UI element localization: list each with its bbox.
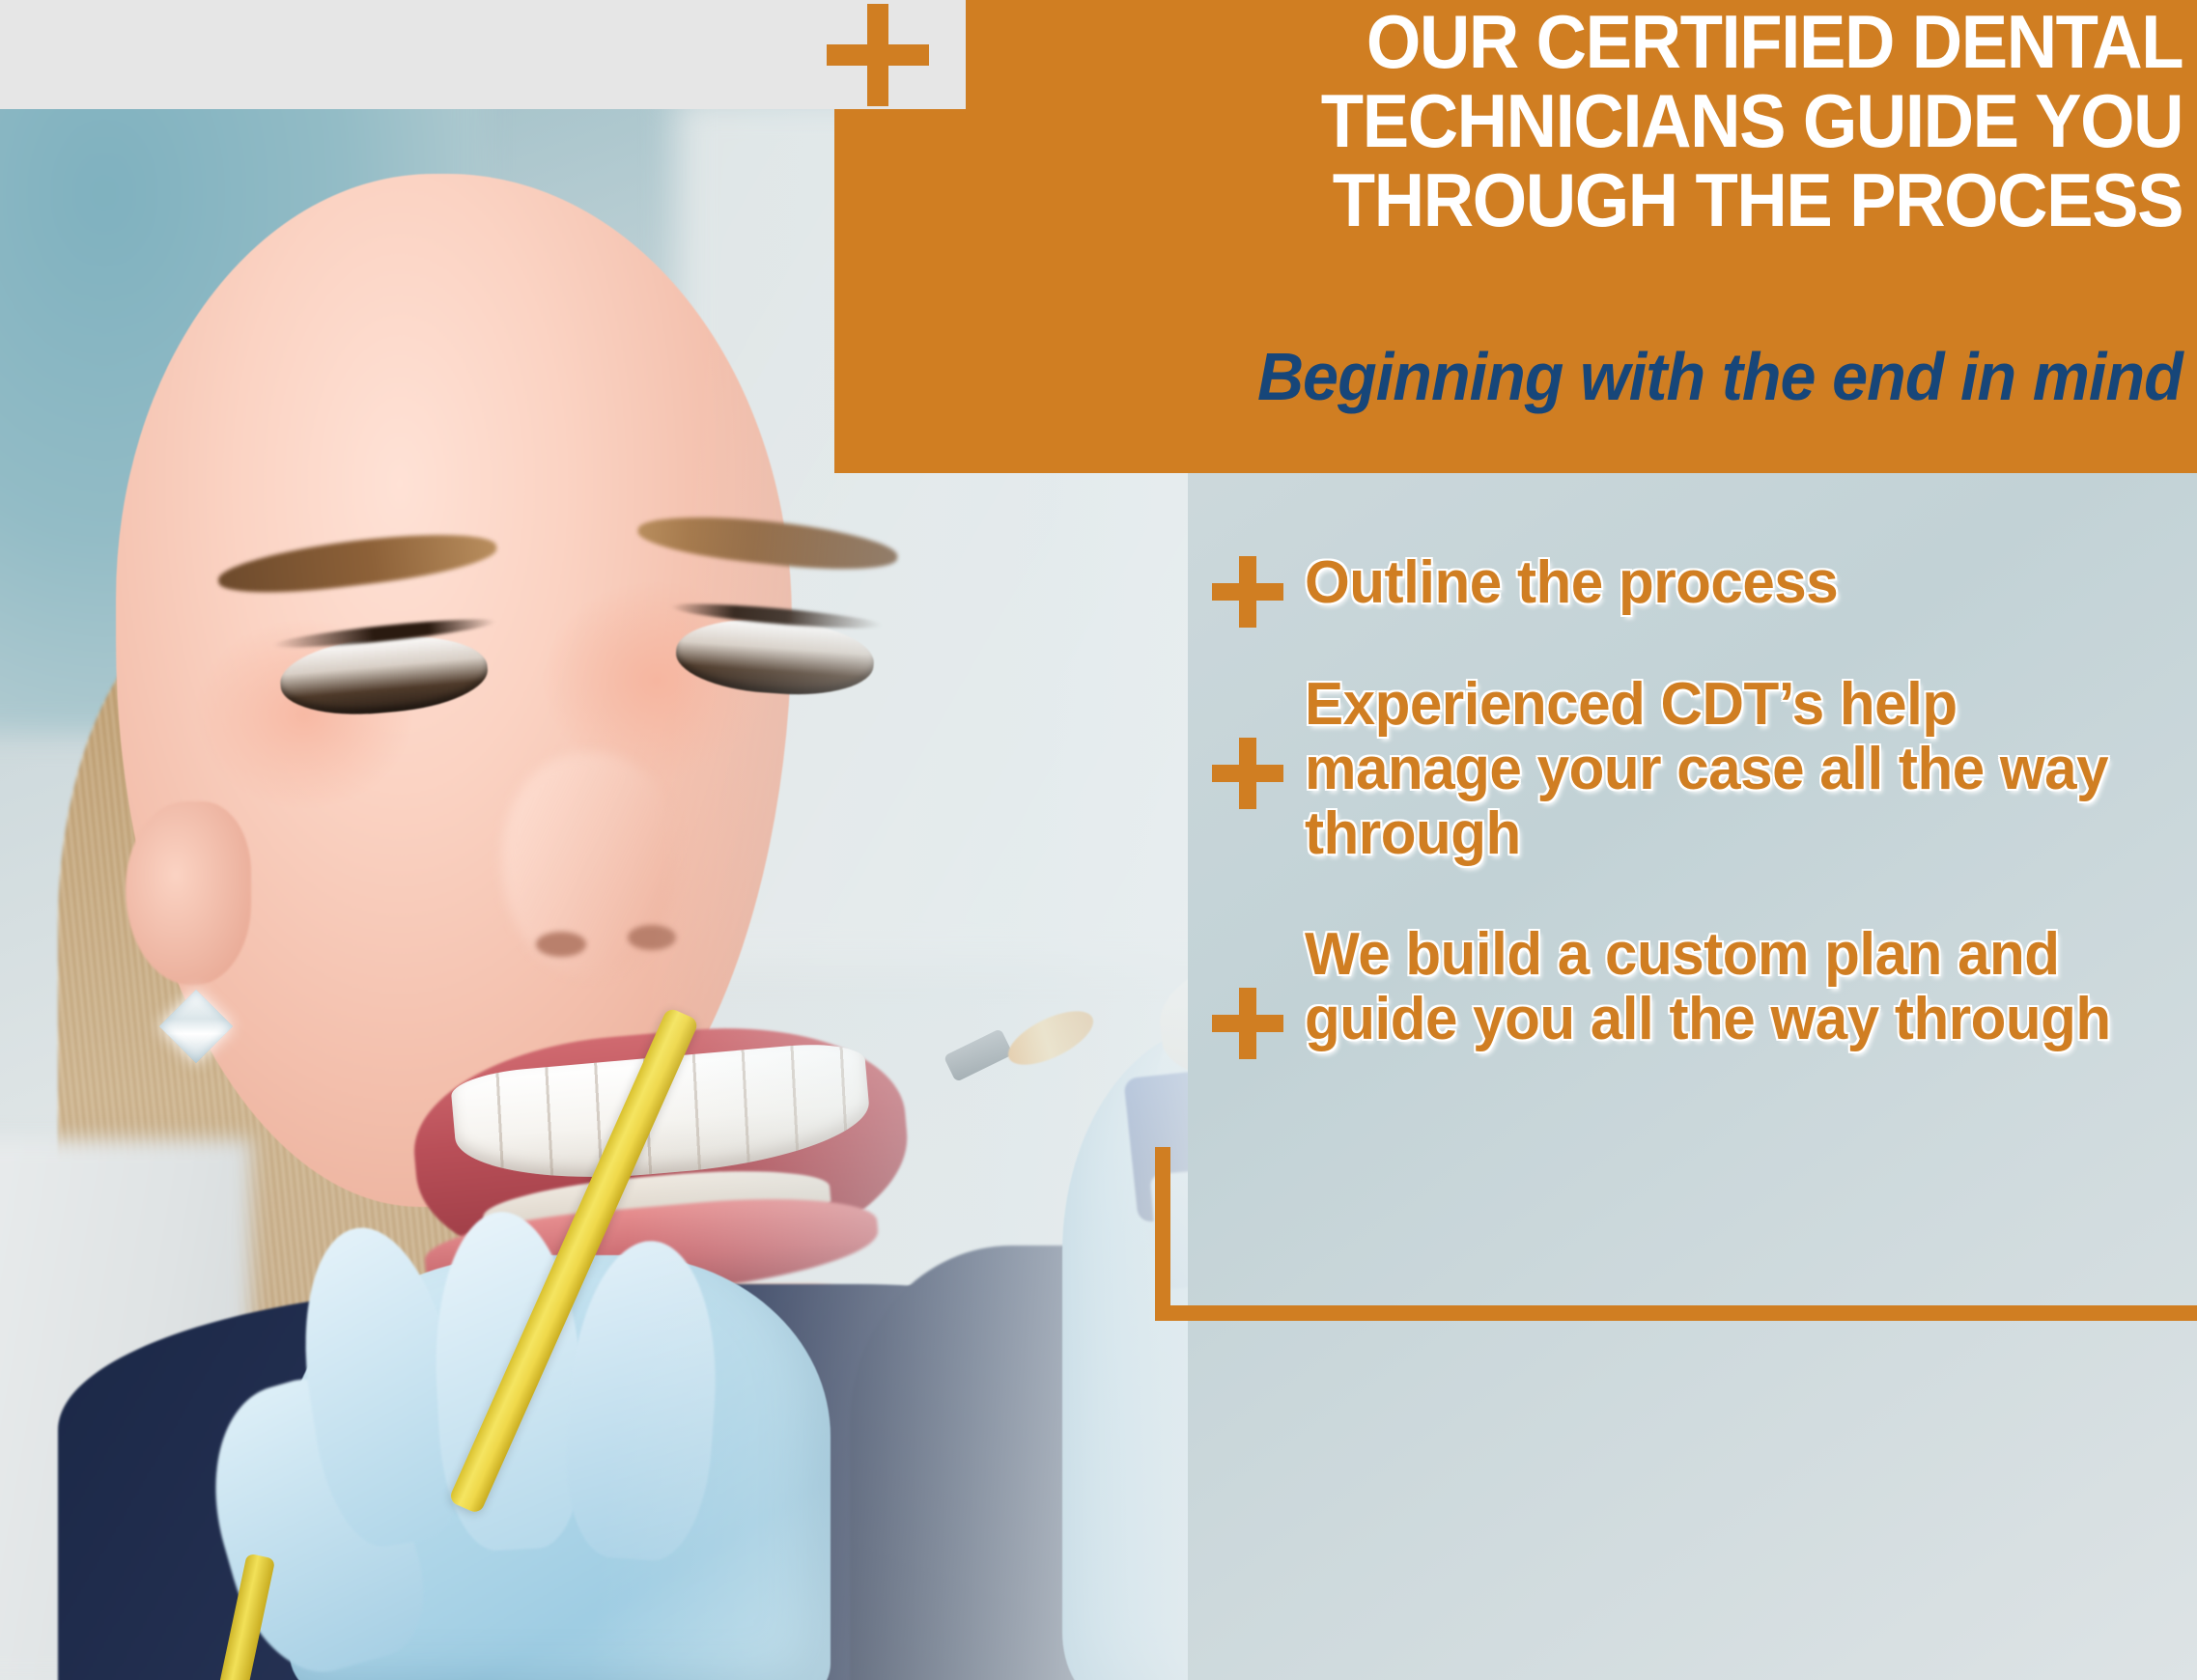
headline-line-1: OUR CERTIFIED DENTAL: [944, 2, 2183, 81]
headline-line-2: TECHNICIANS GUIDE YOU: [944, 81, 2183, 160]
page-subtitle: Beginning with the end in mind: [917, 340, 2197, 413]
list-item: Experienced CDT’s help manage your case …: [1212, 672, 2187, 866]
poster-root: OUR CERTIFIED DENTAL TECHNICIANS GUIDE Y…: [0, 0, 2197, 1680]
accent-bracket-horizontal: [1155, 1305, 2197, 1321]
list-item-label: Experienced CDT’s help manage your case …: [1305, 672, 2161, 866]
list-item: Outline the process: [1212, 550, 2187, 628]
plus-icon-horizontal: [1212, 583, 1283, 601]
plus-icon: [1212, 738, 1283, 809]
plus-icon-horizontal: [1212, 1015, 1283, 1032]
benefits-list: Outline the process Experienced CDT’s he…: [1212, 550, 2187, 1104]
list-item-label: Outline the process: [1305, 550, 1838, 615]
header-plus-horizontal: [827, 44, 929, 66]
plus-icon: [1212, 556, 1283, 628]
top-gray-bar: [0, 0, 966, 109]
plus-icon-horizontal: [1212, 765, 1283, 782]
page-title: OUR CERTIFIED DENTAL TECHNICIANS GUIDE Y…: [944, 2, 2197, 239]
headline-line-3: THROUGH THE PROCESS: [944, 160, 2183, 239]
list-item: We build a custom plan and guide you all…: [1212, 922, 2187, 1059]
list-item-label: We build a custom plan and guide you all…: [1305, 922, 2161, 1051]
plus-icon: [1212, 988, 1283, 1059]
header-plus-icon: [827, 4, 929, 106]
accent-bracket-vertical: [1155, 1147, 1170, 1321]
